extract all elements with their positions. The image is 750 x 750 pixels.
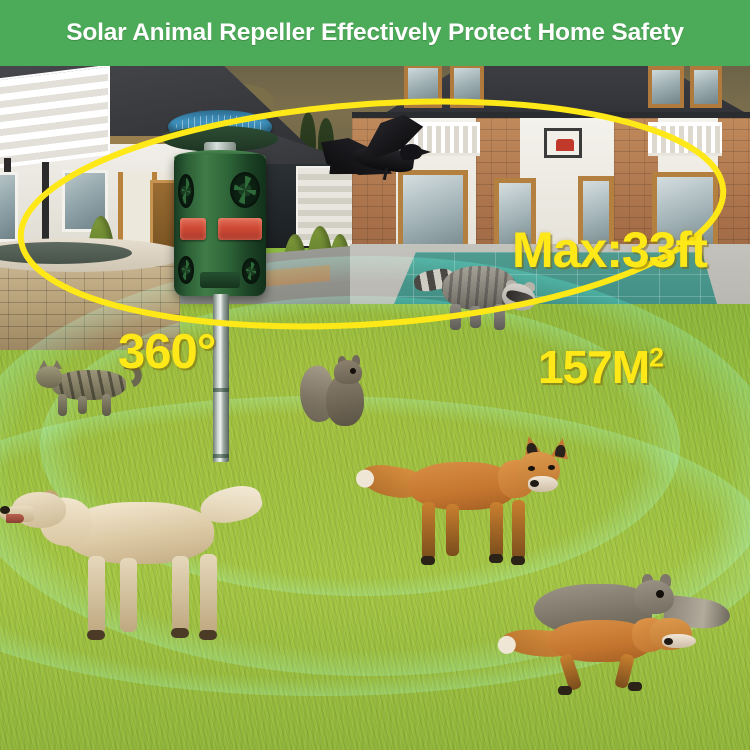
squirrel xyxy=(300,354,400,444)
left-house-balcony xyxy=(0,66,110,169)
squirrel-overlay-eye xyxy=(656,590,664,598)
headline-banner: Solar Animal Repeller Effectively Protec… xyxy=(0,0,750,66)
dog-leg xyxy=(120,558,137,632)
cat-leg xyxy=(78,396,87,414)
product-image: Solar Animal Repeller Effectively Protec… xyxy=(0,0,750,750)
cat-leg xyxy=(102,394,111,416)
fox-eye xyxy=(548,465,555,470)
dog-paw xyxy=(199,630,217,640)
coverage-area-label: 157M2 xyxy=(538,340,663,394)
fox-paw xyxy=(511,556,525,565)
stake-band xyxy=(213,454,229,458)
stake-band xyxy=(213,388,229,392)
running-fox-paw xyxy=(628,682,642,691)
speaker-grille-icon xyxy=(230,172,260,208)
fox-leg xyxy=(446,504,459,556)
right-house-window xyxy=(648,66,684,108)
led-flash-panel xyxy=(180,218,206,240)
squirrel-overlay-head xyxy=(634,580,674,614)
squirrel-eye xyxy=(350,368,356,374)
fox-eye xyxy=(528,466,535,471)
dog xyxy=(4,476,284,656)
dog-paw xyxy=(87,630,105,640)
headline-text: Solar Animal Repeller Effectively Protec… xyxy=(66,19,684,47)
right-house-window xyxy=(450,66,484,108)
squirrel-head xyxy=(334,360,362,384)
fox-paw xyxy=(489,554,503,563)
led-flash-panel xyxy=(218,218,262,240)
device-vent xyxy=(200,272,240,288)
right-house-window xyxy=(690,66,722,108)
coverage-angle-label: 360° xyxy=(118,324,215,380)
speaker-grille-icon xyxy=(242,258,260,284)
coverage-area-exponent: 2 xyxy=(649,343,663,373)
dog-leg xyxy=(172,556,189,632)
cat-leg xyxy=(58,394,67,416)
fox-paw xyxy=(421,556,435,565)
dog-mouth xyxy=(6,514,24,523)
fox-leg xyxy=(490,502,503,558)
crow xyxy=(326,114,436,194)
coverage-area-number: 157M xyxy=(538,341,649,393)
crow-beak xyxy=(418,148,431,156)
scene-photo: Max:33ft 360° 157M2 xyxy=(0,66,750,750)
squirrel-fox xyxy=(524,578,744,708)
speaker-grille-icon xyxy=(178,174,194,208)
dog-leg xyxy=(200,554,217,634)
max-distance-label: Max:33ft xyxy=(512,221,707,279)
fox-leg xyxy=(512,500,525,560)
raccoon-leg xyxy=(470,306,481,328)
right-house-window xyxy=(404,66,442,108)
speaker-grille-icon xyxy=(178,256,194,284)
right-house-balcony xyxy=(648,122,722,156)
dog-leg xyxy=(88,556,105,634)
ground-stake xyxy=(213,294,229,462)
dog-nose xyxy=(0,506,10,514)
raccoon-leg xyxy=(494,304,505,330)
cat-head xyxy=(36,366,62,388)
wall-plaque xyxy=(544,128,582,158)
fox-nose xyxy=(530,480,539,487)
fox-ear xyxy=(550,437,571,460)
running-fox-paw xyxy=(558,686,572,695)
dog-paw xyxy=(171,628,189,638)
raccoon-leg xyxy=(450,304,461,330)
solar-animal-repeller xyxy=(160,106,280,466)
fox-leg xyxy=(422,502,435,560)
left-house-window xyxy=(0,172,18,242)
running-fox-nose xyxy=(664,638,673,645)
